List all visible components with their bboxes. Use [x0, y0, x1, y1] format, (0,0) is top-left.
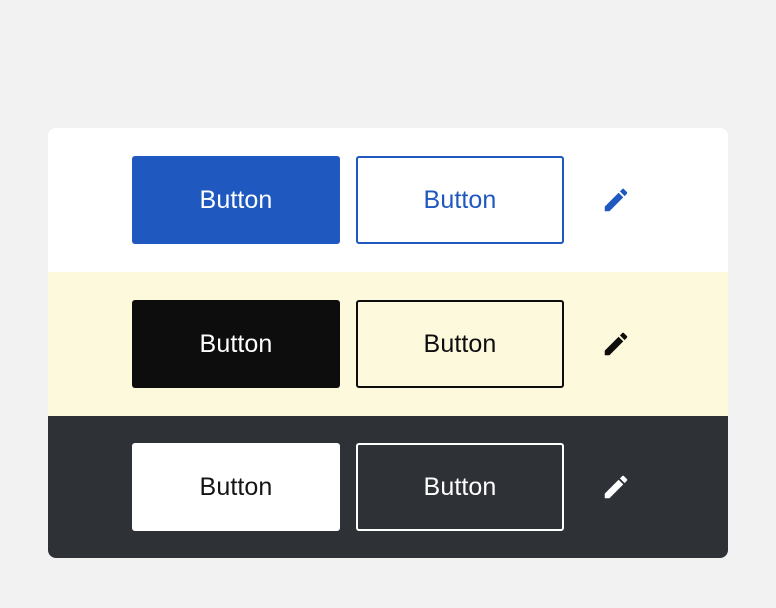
edit-icon-button-cream[interactable]: [596, 324, 636, 364]
pencil-icon: [601, 329, 631, 359]
outline-button-light[interactable]: Button: [356, 156, 564, 244]
solid-button-dark[interactable]: Button: [132, 443, 340, 531]
pencil-icon: [601, 472, 631, 502]
solid-button-cream[interactable]: Button: [132, 300, 340, 388]
theme-row-light: Button Button: [48, 128, 728, 272]
theme-row-dark: Button Button: [48, 416, 728, 558]
pencil-icon: [601, 185, 631, 215]
theme-row-cream: Button Button: [48, 272, 728, 416]
edit-icon-button-light[interactable]: [596, 180, 636, 220]
outline-button-dark[interactable]: Button: [356, 443, 564, 531]
page-root: Button Button Button Button: [0, 0, 776, 608]
solid-button-light[interactable]: Button: [132, 156, 340, 244]
edit-icon-button-dark[interactable]: [596, 467, 636, 507]
outline-button-cream[interactable]: Button: [356, 300, 564, 388]
theme-preview-card: Button Button Button Button: [48, 128, 728, 558]
